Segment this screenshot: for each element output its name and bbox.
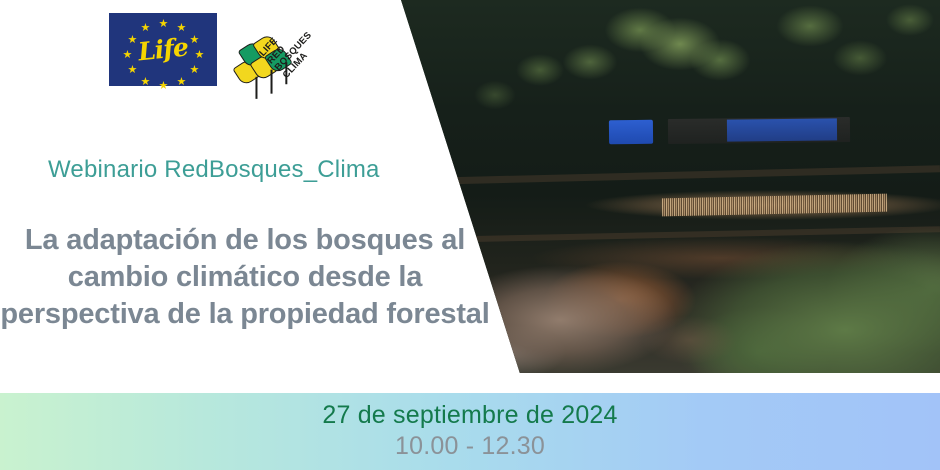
eu-star-icon: ★ — [177, 78, 186, 87]
eu-star-icon: ★ — [141, 78, 150, 87]
eu-star-icon: ★ — [177, 24, 186, 33]
life-eu-logo: ★ ★ ★ ★ ★ ★ ★ ★ ★ ★ ★ ★ Life — [109, 13, 217, 86]
eu-star-icon: ★ — [141, 24, 150, 33]
eu-star-icon: ★ — [159, 82, 168, 91]
red-bosques-clima-logo: LIFE RED BOSQUES CLIMA — [228, 8, 320, 100]
webinar-series-label: Webinario RedBosques_Clima — [48, 156, 380, 184]
logging-truck-cab — [609, 120, 653, 144]
tree-trunk — [271, 70, 273, 94]
webinar-poster: ★ ★ ★ ★ ★ ★ ★ ★ ★ ★ ★ ★ Life — [0, 0, 940, 470]
page-title: La adaptación de los bosques al cambio c… — [0, 222, 490, 333]
tree-trunk — [255, 77, 257, 99]
date-time-band: 27 de septiembre de 2024 10.00 - 12.30 — [0, 393, 940, 470]
event-time: 10.00 - 12.30 — [0, 432, 940, 461]
eu-star-icon: ★ — [190, 66, 199, 75]
logging-truck-load — [727, 118, 837, 141]
event-date: 27 de septiembre de 2024 — [0, 401, 940, 430]
eu-star-icon: ★ — [159, 20, 168, 29]
